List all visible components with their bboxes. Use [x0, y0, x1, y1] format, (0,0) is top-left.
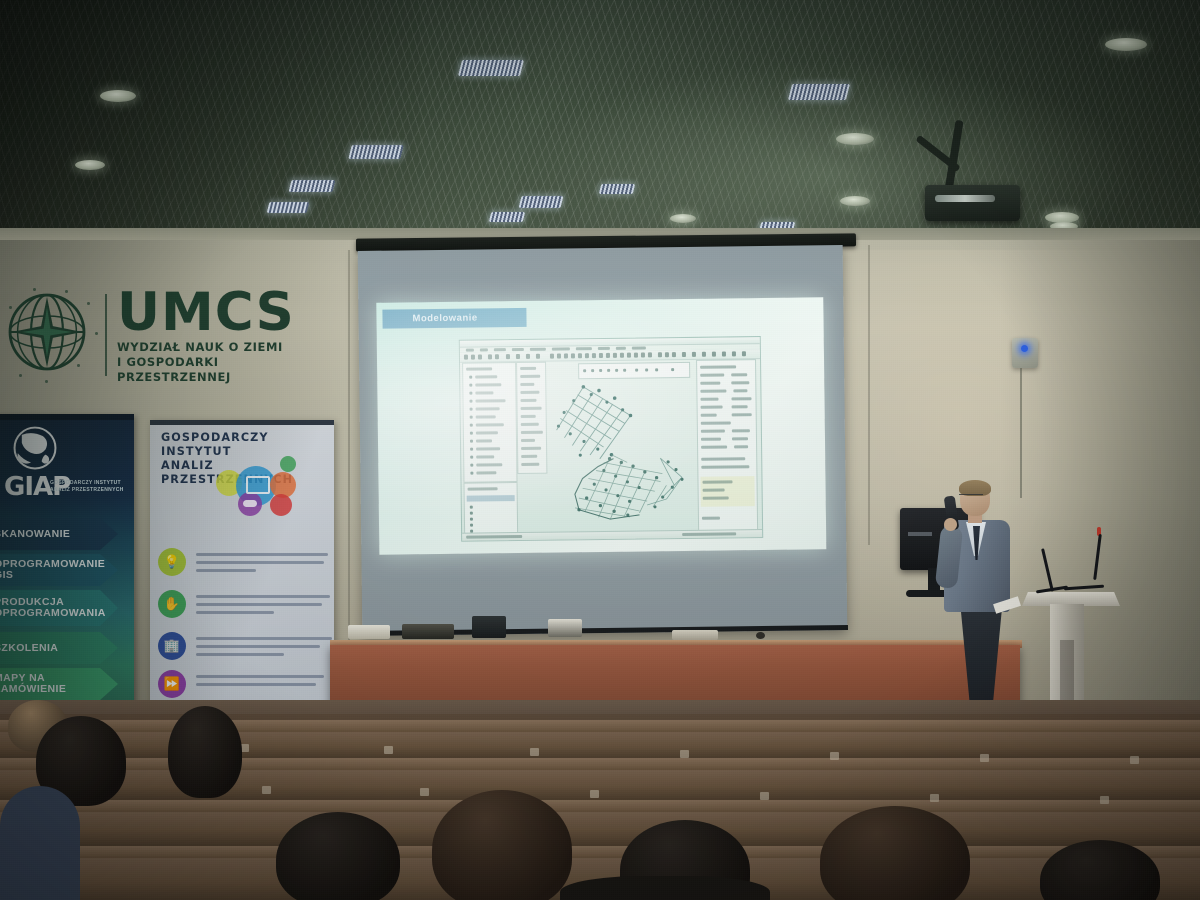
ceiling-vent: [289, 180, 336, 192]
ceiling-vent: [599, 184, 635, 194]
speaker-led-icon: [1021, 345, 1028, 352]
laptop-closed: [472, 616, 506, 638]
giap-rollup-banner: GOSPODARCZY INSTYTUT ANALIZ PRZESTRZENNY…: [150, 420, 334, 720]
small-object: [756, 632, 765, 639]
ceiling-light: [840, 196, 870, 206]
audience-head: [276, 812, 400, 900]
ceiling-projector: [925, 185, 1020, 221]
lectern-shading: [1060, 640, 1074, 700]
lecture-hall-photo: UMCS WYDZIAŁ NAUK O ZIEMI I GOSPODARKI P…: [0, 0, 1200, 900]
ceiling-vent: [519, 196, 564, 208]
presenter-hand: [944, 518, 957, 531]
ceiling-vent: [267, 202, 310, 213]
wall-speaker: [1012, 338, 1038, 368]
monitor-brand-label: [908, 532, 932, 536]
bench-divider: [980, 754, 989, 762]
book-stack: [402, 624, 454, 639]
ceiling-light: [1105, 38, 1147, 51]
glasses-icon: [959, 494, 983, 500]
ceiling-light: [836, 133, 874, 145]
audience-shoulder: [0, 786, 80, 900]
bench-divider: [680, 750, 689, 758]
wall-seam: [868, 245, 870, 545]
device-box: [548, 619, 582, 637]
globe-compass-icon: [5, 290, 89, 374]
banner-shadow-overlay: [0, 414, 134, 706]
audience-head: [432, 790, 572, 900]
umcs-logo: UMCS WYDZIAŁ NAUK O ZIEMI I GOSPODARKI P…: [5, 288, 305, 396]
bench-divider: [384, 746, 393, 754]
bench-divider: [530, 748, 539, 756]
umcs-logo-text: UMCS WYDZIAŁ NAUK O ZIEMI I GOSPODARKI P…: [117, 286, 305, 385]
ceiling-vent: [788, 84, 850, 100]
projector-lens: [935, 195, 995, 202]
bench-row: [0, 812, 1200, 846]
umcs-name: UMCS: [117, 286, 305, 340]
rollup-shadow-overlay: [150, 420, 334, 720]
giap-banner-left: GIAP GOSPODARCZY INSTYTUT ANALIZ PRZESTR…: [0, 414, 134, 706]
bench-divider: [262, 786, 271, 794]
bench-divider: [1100, 796, 1109, 804]
bench-divider: [1130, 756, 1139, 764]
papers-stack: [348, 625, 390, 639]
ceiling-vent: [489, 212, 525, 222]
bench-backrest: [0, 846, 1200, 858]
ceiling-light: [75, 160, 105, 170]
umcs-faculty-line-1: WYDZIAŁ NAUK O ZIEMI: [117, 340, 305, 355]
audience-head: [168, 706, 242, 798]
speaker-cable: [1020, 368, 1022, 498]
presenter: [932, 482, 1028, 710]
slide-light-bloom: [376, 297, 826, 554]
projected-slide: Modelowanie: [376, 297, 826, 554]
projection-screen: Modelowanie: [358, 245, 848, 636]
umcs-faculty-line-2: I GOSPODARKI PRZESTRZENNEJ: [117, 355, 305, 385]
bench-divider: [830, 752, 839, 760]
presenter-legs: [958, 608, 1002, 710]
ceiling-light: [670, 214, 696, 223]
bench-divider: [590, 790, 599, 798]
ceiling-vent: [348, 145, 403, 159]
wall-shadow-right: [1000, 240, 1200, 710]
ceiling-light: [100, 90, 136, 102]
logo-divider: [105, 294, 107, 376]
bench-divider: [760, 792, 769, 800]
bench-divider: [420, 788, 429, 796]
paper-sheet: [672, 630, 718, 640]
ceiling-vent: [458, 60, 524, 76]
bench-backrest: [0, 800, 1200, 812]
bench-divider: [930, 794, 939, 802]
ceiling-shadow: [0, 0, 420, 246]
audience-shoulder: [560, 876, 770, 900]
